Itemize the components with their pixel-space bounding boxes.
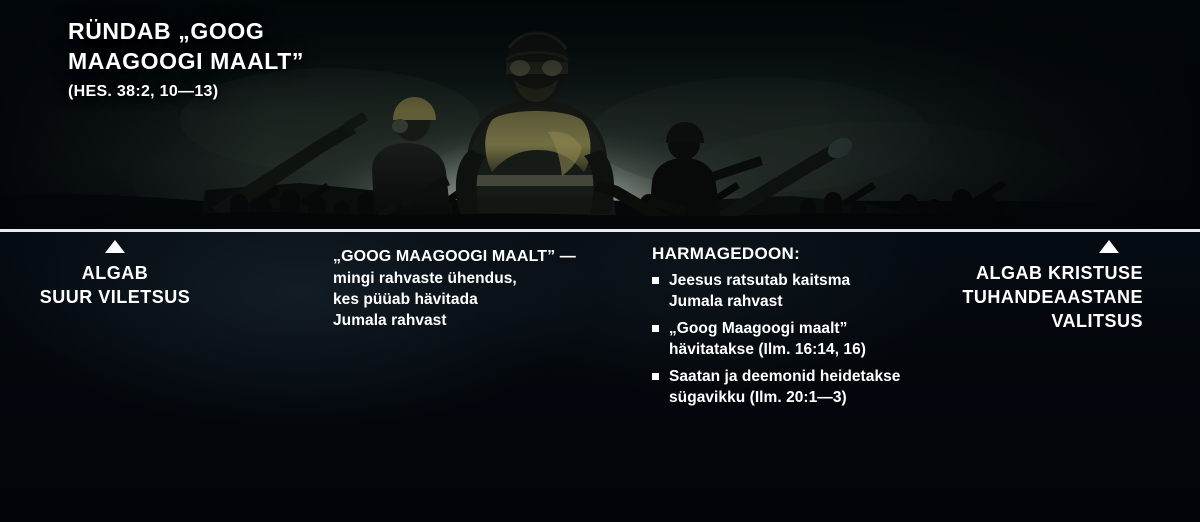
- reign-line-2: TUHANDEAASTANE: [930, 285, 1143, 309]
- column-armageddon: HARMAGEDOON: Jeesus ratsutab kaitsma Jum…: [652, 242, 962, 414]
- armageddon-bullet-2: „Goog Maagoogi maalt” hävitatakse (Ilm. …: [669, 318, 866, 360]
- armageddon-bullet-3: Saatan ja deemonid heidetakse sügavikku …: [669, 366, 900, 408]
- up-triangle-icon: [105, 240, 125, 253]
- armageddon-bullet-3-line-2: sügavikku (Ilm. 20:1—3): [669, 387, 900, 408]
- scripture-reference: (HES. 38:2, 10—13): [68, 83, 588, 101]
- title-line-1: RÜNDAB „GOOG: [68, 16, 588, 46]
- title-line-2: MAAGOOGI MAALT”: [68, 46, 588, 76]
- page-title: RÜNDAB „GOOG MAAGOOGI MAALT” (HES. 38:2,…: [68, 16, 588, 101]
- column-gog-of-magog: „GOOG MAAGOOGI MAALT” — mingi rahvaste ü…: [333, 246, 633, 331]
- army-silhouette-photo: RÜNDAB „GOOG MAAGOOGI MAALT” (HES. 38:2,…: [0, 0, 1200, 229]
- list-item: Saatan ja deemonid heidetakse sügavikku …: [652, 366, 962, 408]
- up-triangle-icon: [1099, 240, 1119, 253]
- reign-line-3: VALITSUS: [930, 309, 1143, 333]
- armageddon-bullet-1: Jeesus ratsutab kaitsma Jumala rahvast: [669, 270, 850, 312]
- armageddon-bullet-3-line-1: Saatan ja deemonid heidetakse: [669, 366, 900, 387]
- square-bullet-icon: [652, 325, 659, 332]
- armageddon-bullet-1-line-1: Jeesus ratsutab kaitsma: [669, 270, 850, 291]
- column-start-great-tribulation: ALGAB SUUR VILETSUS: [0, 240, 230, 309]
- armageddon-bullet-2-line-2: hävitatakse (Ilm. 16:14, 16): [669, 339, 866, 360]
- gog-body-line-3: Jumala rahvast: [333, 310, 633, 331]
- gog-lead-text: „GOOG MAAGOOGI MAALT” —: [333, 246, 633, 268]
- infographic-panel: RÜNDAB „GOOG MAAGOOGI MAALT” (HES. 38:2,…: [0, 0, 1200, 522]
- gog-body-line-2: kes püüab hävitada: [333, 289, 633, 310]
- armageddon-heading: HARMAGEDOON:: [652, 242, 962, 266]
- square-bullet-icon: [652, 277, 659, 284]
- gog-body-line-1: mingi rahvaste ühendus,: [333, 268, 633, 289]
- armageddon-bullet-2-line-1: „Goog Maagoogi maalt”: [669, 318, 866, 339]
- column-christs-thousand-year-reign: ALGAB KRISTUSE TUHANDEAASTANE VALITSUS: [930, 240, 1143, 333]
- reign-line-1: ALGAB KRISTUSE: [930, 261, 1143, 285]
- start-tribulation-line-1: ALGAB: [0, 261, 230, 285]
- list-item: „Goog Maagoogi maalt” hävitatakse (Ilm. …: [652, 318, 962, 360]
- armageddon-bullet-1-line-2: Jumala rahvast: [669, 291, 850, 312]
- list-item: Jeesus ratsutab kaitsma Jumala rahvast: [652, 270, 962, 312]
- square-bullet-icon: [652, 373, 659, 380]
- timeline-legend-panel: ALGAB SUUR VILETSUS „GOOG MAAGOOGI MAALT…: [0, 232, 1200, 522]
- start-tribulation-line-2: SUUR VILETSUS: [0, 285, 230, 309]
